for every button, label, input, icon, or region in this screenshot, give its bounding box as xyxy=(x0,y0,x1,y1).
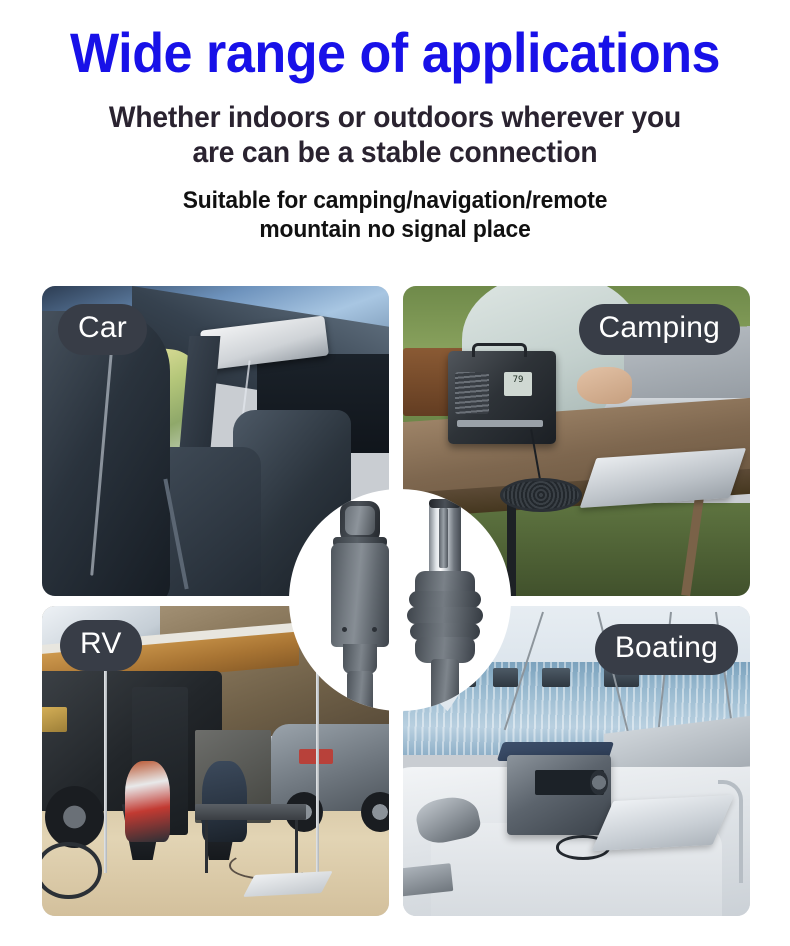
boating-power-station-port xyxy=(590,770,607,795)
camping-power-station-handle xyxy=(472,343,527,357)
rv-person-right xyxy=(202,761,247,842)
dc-barrel-cable xyxy=(431,659,459,711)
gallery-label-car: Car xyxy=(58,304,147,355)
rv-trailer-window xyxy=(42,707,67,732)
rv-camp-table xyxy=(195,804,306,820)
boating-moored-boat-2 xyxy=(493,668,517,687)
dc-barrel-pin-highlight xyxy=(439,508,448,568)
rv-person-left xyxy=(125,761,170,842)
usb-c-housing-dot-left xyxy=(342,627,347,632)
camping-power-station: 79 xyxy=(448,351,556,444)
dc-barrel-rib-2 xyxy=(407,607,483,624)
gallery-label-boating: Boating xyxy=(595,624,738,675)
usb-c-cable xyxy=(347,671,373,711)
usb-c-strain-relief xyxy=(343,644,377,674)
boating-moored-boat-3 xyxy=(542,668,570,687)
rv-table-leg-left xyxy=(205,820,208,873)
dc-barrel-rib-1 xyxy=(409,591,481,608)
camping-solar-panel xyxy=(580,448,746,508)
usb-c-housing-dot-right xyxy=(372,627,377,632)
marketing-page: Wide range of applications Whether indoo… xyxy=(0,0,790,946)
boating-power-station xyxy=(507,755,611,836)
tagline-line-1: Suitable for camping/navigation/remote xyxy=(20,186,771,215)
page-title: Wide range of applications xyxy=(28,0,763,84)
camping-power-station-vent xyxy=(455,372,489,415)
gallery-label-rv: RV xyxy=(60,620,142,671)
camping-hand xyxy=(577,367,633,404)
tagline: Suitable for camping/navigation/remote m… xyxy=(20,170,771,244)
tagline-line-2: mountain no signal place xyxy=(20,215,771,244)
gallery-label-camping: Camping xyxy=(579,304,740,355)
rv-solar-panel xyxy=(243,871,333,897)
rv-awning-pole-right xyxy=(316,649,319,872)
camping-power-station-stripe xyxy=(457,420,543,427)
subheadline-line-1: Whether indoors or outdoors wherever you xyxy=(24,100,767,135)
subheadline-line-2: are can be a stable connection xyxy=(24,135,767,170)
boating-solar-panel xyxy=(592,795,734,851)
header-block: Wide range of applications Whether indoo… xyxy=(0,0,790,244)
usb-c-housing xyxy=(331,543,389,647)
dc-barrel-pin-rim xyxy=(429,499,461,508)
rv-trailer-wheel xyxy=(45,786,104,848)
rv-awning-pole-left xyxy=(104,649,107,872)
subheadline: Whether indoors or outdoors wherever you… xyxy=(24,84,767,170)
camping-coiled-cable xyxy=(500,478,582,512)
camping-power-station-display: 79 xyxy=(504,372,532,396)
usb-c-connector xyxy=(327,501,393,711)
product-badge xyxy=(289,489,511,711)
dc-barrel-connector xyxy=(407,499,483,711)
